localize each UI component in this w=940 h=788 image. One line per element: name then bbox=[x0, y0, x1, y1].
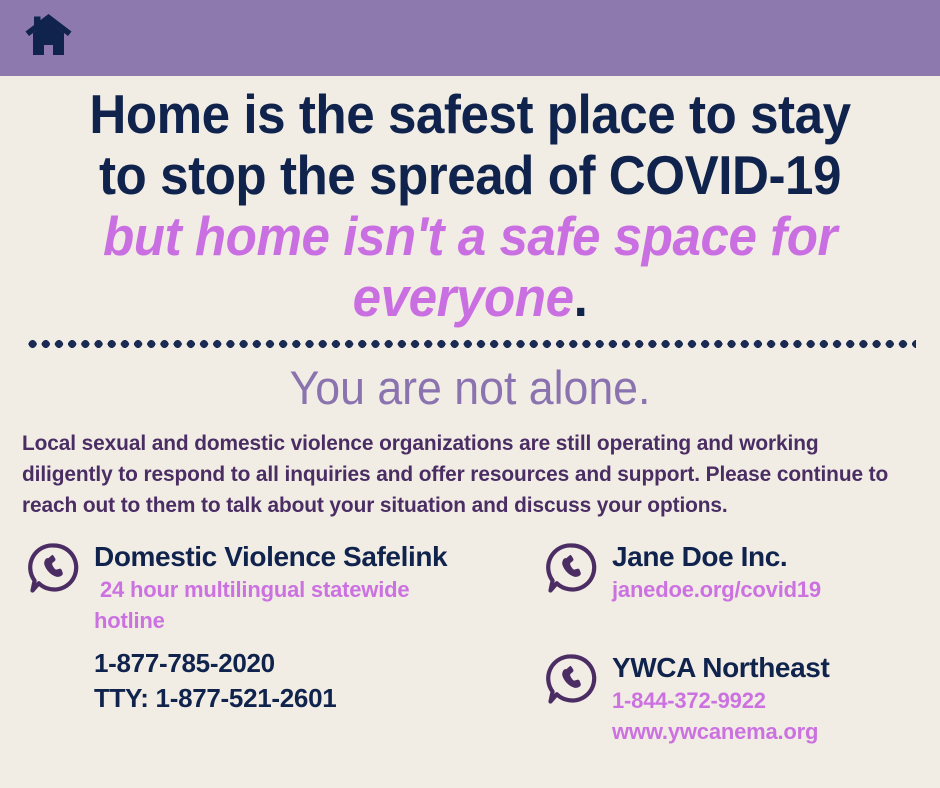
contacts-column-left: Domestic Violence Safelink 24 hour multi… bbox=[28, 540, 528, 716]
headline-period: . bbox=[574, 266, 588, 328]
headline-line-2: to stop the spread of COVID-19 bbox=[33, 145, 907, 206]
headline-line-4: everyone bbox=[353, 266, 574, 328]
body-paragraph: Local sexual and domestic violence organ… bbox=[22, 428, 897, 521]
contact-name: YWCA Northeast bbox=[612, 652, 829, 683]
dotted-divider bbox=[26, 340, 916, 348]
poster-canvas: Home is the safest place to stay to stop… bbox=[0, 0, 940, 788]
phone-bubble-icon bbox=[28, 542, 80, 594]
spacer bbox=[546, 605, 936, 651]
contacts-column-right: Jane Doe Inc. janedoe.org/covid19 Y bbox=[546, 540, 936, 747]
contact-safelink: Domestic Violence Safelink 24 hour multi… bbox=[28, 540, 528, 716]
headline-line-1: Home is the safest place to stay bbox=[33, 84, 907, 145]
headline-line-3: but home isn't a safe space for bbox=[33, 206, 907, 267]
contact-phone[interactable]: 1-844-372-9922 bbox=[612, 685, 936, 716]
header-band bbox=[0, 0, 940, 76]
contact-name: Domestic Violence Safelink bbox=[94, 541, 447, 572]
phone-bubble-icon bbox=[546, 653, 598, 705]
contact-phone-list: 1-877-785-2020 TTY: 1-877-521-2601 bbox=[94, 646, 528, 716]
contacts-section: Domestic Violence Safelink 24 hour multi… bbox=[0, 540, 940, 788]
contact-website[interactable]: www.ywcanema.org bbox=[612, 716, 936, 747]
contact-subline-1: 24 hour multilingual statewide bbox=[94, 574, 528, 605]
subhead: You are not alone. bbox=[24, 362, 917, 414]
contact-phone-primary[interactable]: 1-877-785-2020 bbox=[94, 646, 528, 681]
contact-website[interactable]: janedoe.org/covid19 bbox=[612, 574, 936, 605]
contact-phone-tty[interactable]: TTY: 1-877-521-2601 bbox=[94, 681, 528, 716]
contact-name: Jane Doe Inc. bbox=[612, 541, 787, 572]
home-icon bbox=[20, 8, 78, 66]
page-title: Home is the safest place to stay to stop… bbox=[33, 84, 907, 328]
contact-subline-2: hotline bbox=[94, 605, 528, 636]
contact-ywca: YWCA Northeast 1-844-372-9922 www.ywcane… bbox=[546, 651, 936, 747]
contact-jane-doe: Jane Doe Inc. janedoe.org/covid19 bbox=[546, 540, 936, 605]
phone-bubble-icon bbox=[546, 542, 598, 594]
